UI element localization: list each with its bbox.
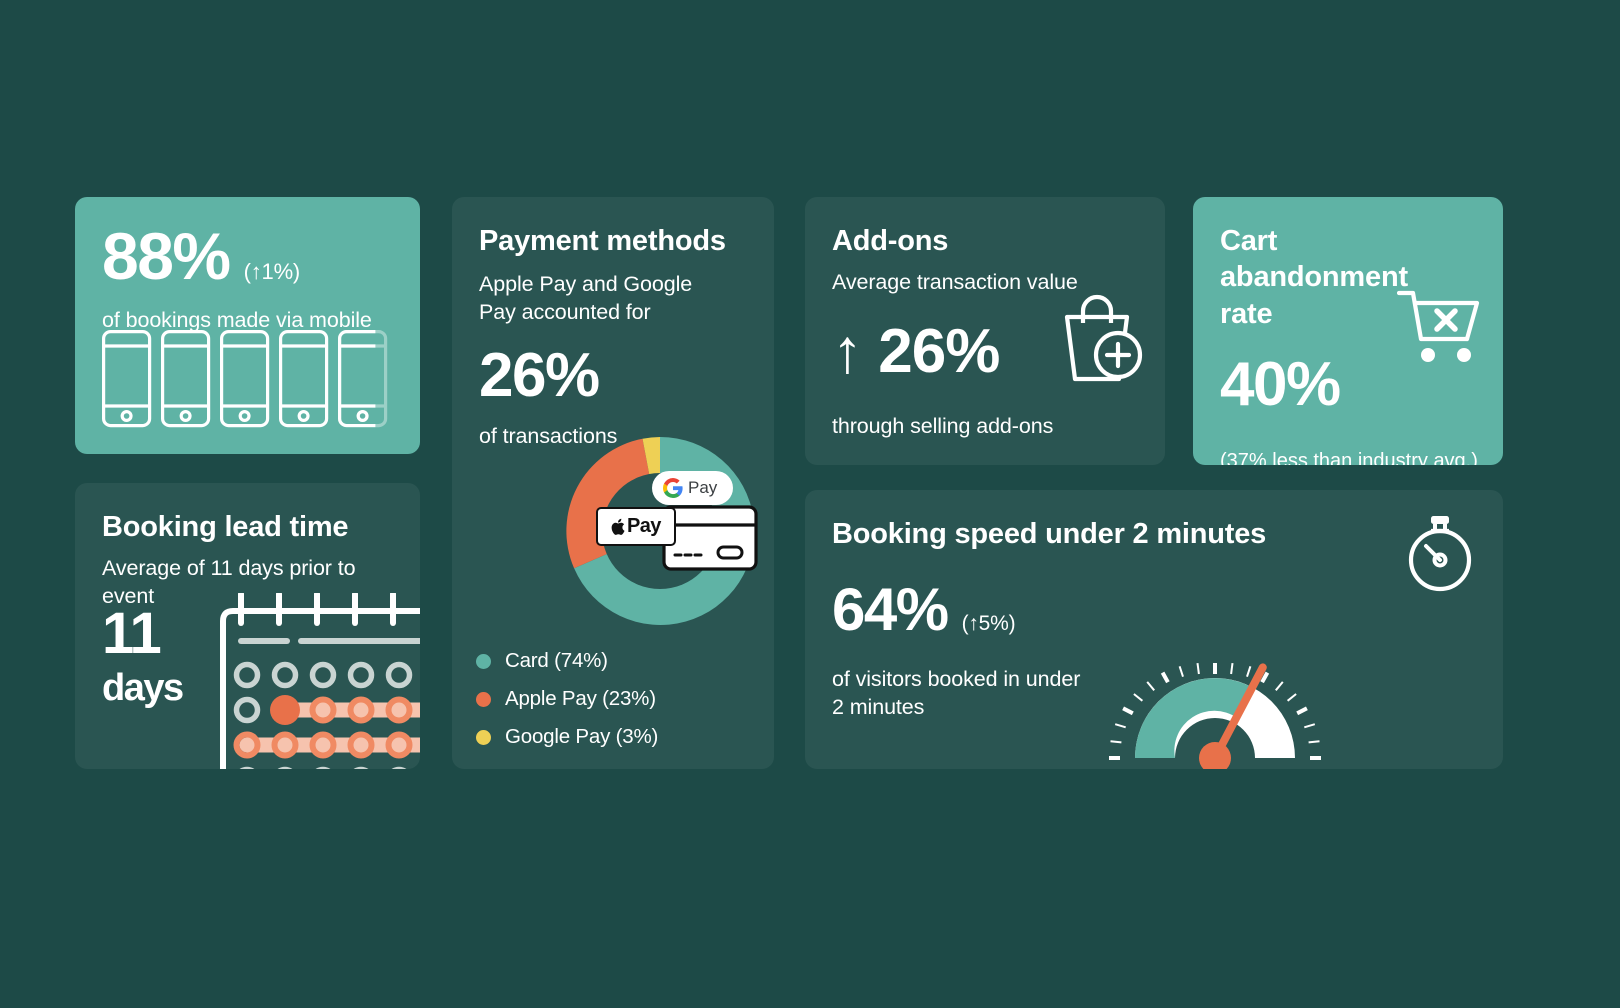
speed-delta: (↑5%): [962, 612, 1016, 636]
apple-pay-badge: Pay: [596, 507, 676, 546]
card-mobile-bookings: 88% (↑1%) of bookings made via mobile: [75, 197, 420, 454]
legend-dot-card: [476, 654, 491, 669]
speed-gauge-chart: [1105, 556, 1503, 769]
speed-value: 64%: [832, 580, 948, 640]
lead-title: Booking lead time: [102, 509, 400, 545]
payment-legend: Card (74%) Apple Pay (23%) Google Pay (3…: [476, 649, 658, 763]
payment-badges: Pay Pay: [596, 473, 766, 583]
legend-label-google-pay: Google Pay (3%): [505, 725, 658, 749]
mobile-phone-icon: [102, 330, 402, 435]
addons-title: Add-ons: [832, 223, 1145, 259]
speed-title: Booking speed under 2 minutes: [832, 516, 1483, 552]
payment-title: Payment methods: [479, 223, 754, 259]
payment-value: 26%: [479, 345, 754, 407]
legend-label-card: Card (74%): [505, 649, 608, 673]
payment-donut-chart: Pay Pay: [550, 421, 770, 646]
payment-subtitle: Apple Pay and Google Pay accounted for: [479, 271, 719, 327]
google-g-icon: [663, 478, 683, 498]
legend-label-apple-pay: Apple Pay (23%): [505, 687, 656, 711]
card-booking-speed: Booking speed under 2 minutes 64% (↑5%) …: [805, 490, 1503, 769]
cart-x-icon: [1397, 287, 1483, 372]
addons-caption: through selling add-ons: [832, 413, 1145, 441]
mobile-delta: (↑1%): [244, 259, 300, 285]
legend-item-card: Card (74%): [476, 649, 658, 673]
apple-pay-label: Pay: [627, 515, 661, 538]
legend-item-google-pay: Google Pay (3%): [476, 725, 658, 749]
cart-note: (37% less than industry avg.): [1220, 448, 1483, 465]
card-booking-lead-time: Booking lead time Average of 11 days pri…: [75, 483, 420, 769]
credit-card-icon: [662, 505, 758, 571]
calendar-icon: [205, 593, 420, 769]
legend-item-apple-pay: Apple Pay (23%): [476, 687, 658, 711]
card-addons: Add-ons Average transaction value ↑ 26% …: [805, 197, 1165, 465]
google-pay-badge: Pay: [654, 473, 731, 503]
legend-dot-apple-pay: [476, 692, 491, 707]
infographic-dashboard: 88% (↑1%) of bookings made via mobile: [0, 0, 1620, 1008]
speed-caption: of visitors booked in under 2 minutes: [832, 666, 1092, 722]
apple-logo-icon: [611, 518, 626, 536]
payment-content: Payment methods Apple Pay and Google Pay…: [479, 223, 754, 451]
lead-unit: days: [102, 669, 183, 707]
mobile-value-row: 88% (↑1%): [102, 223, 400, 289]
mobile-value: 88%: [102, 223, 230, 289]
shopping-bag-plus-icon: [1055, 289, 1143, 389]
legend-dot-google-pay: [476, 730, 491, 745]
card-payment-methods: Payment methods Apple Pay and Google Pay…: [452, 197, 774, 769]
google-pay-label: Pay: [688, 478, 717, 498]
lead-value-block: 11 days: [102, 605, 183, 707]
card-cart-abandonment: Cart abandonment rate 40% (37% less than…: [1193, 197, 1503, 465]
mobile-content: 88% (↑1%) of bookings made via mobile: [102, 223, 400, 335]
lead-value: 11: [102, 605, 183, 663]
